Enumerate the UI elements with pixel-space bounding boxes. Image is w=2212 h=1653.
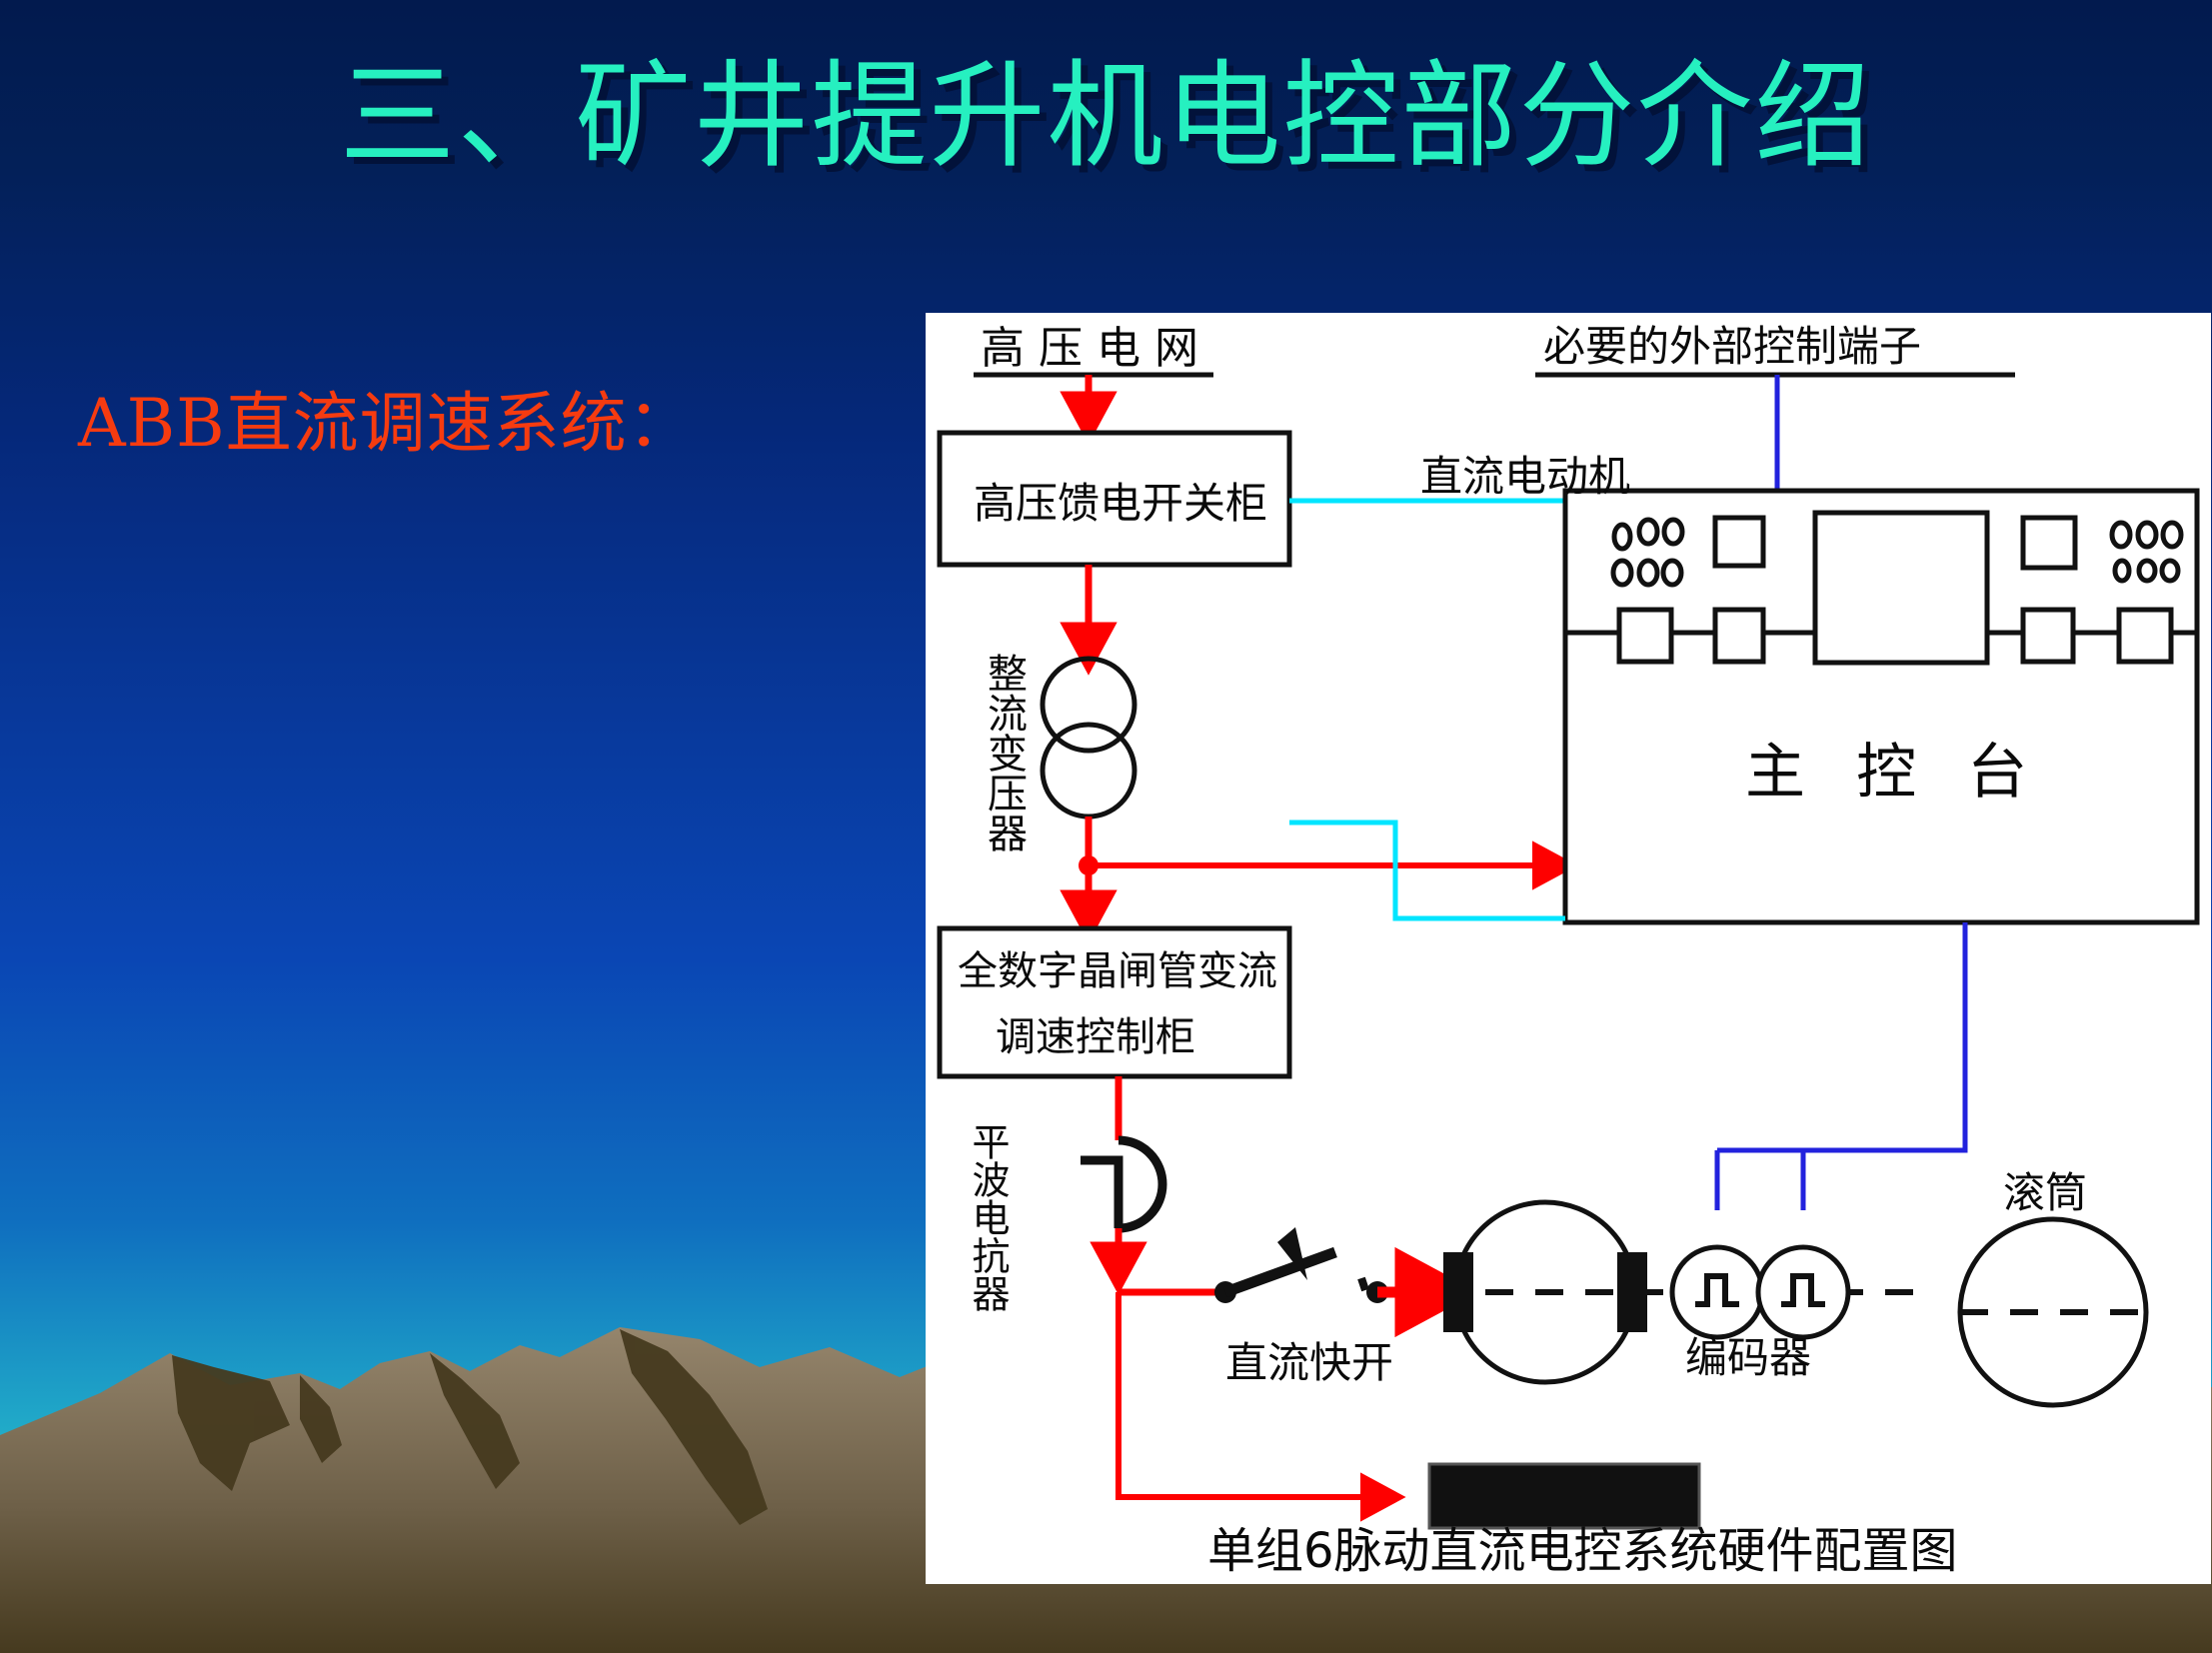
- label-smoothing-reactor: 平波电抗器: [966, 1122, 1010, 1312]
- field-excitation-bar: [1429, 1464, 1699, 1528]
- motor-brush-left: [1443, 1252, 1473, 1332]
- subtitle-text: ABB直流调速系统：: [78, 370, 695, 466]
- label-encoder: 编码器: [1685, 1333, 1811, 1382]
- encoder-circle-1: [1672, 1247, 1762, 1337]
- label-rectifier-transformer: 整流变压器: [981, 653, 1027, 852]
- console-display-screen[interactable]: [1815, 513, 1987, 663]
- power-line-to-field-bar: [1118, 1292, 1393, 1497]
- slide-root: 三、矿井提升机电控部分介绍 ABB直流调速系统： 高 压 电 网 必要的外部控制…: [0, 0, 2212, 1653]
- diagram-panel: 高 压 电 网 必要的外部控制端子 高压馈电开关柜 整流变压器: [926, 313, 2211, 1584]
- label-main-console: 主 控 台: [1745, 738, 2043, 808]
- label-drum: 滚筒: [2003, 1168, 2087, 1217]
- label-converter-line2: 调速控制柜: [996, 1014, 1195, 1060]
- diagram-caption: 单组6脉动直流电控系统硬件配置图: [1207, 1523, 1958, 1579]
- label-external-terminals: 必要的外部控制端子: [1543, 322, 1921, 371]
- transformer-coil-secondary: [1043, 725, 1134, 817]
- slide-title: 三、矿井提升机电控部分介绍: [0, 52, 2212, 182]
- reactor-core-line: [1081, 1160, 1118, 1228]
- label-converter-line1: 全数字晶闸管变流: [958, 948, 1277, 994]
- control-line-console-to-encoder: [1803, 922, 1965, 1210]
- signal-line-converter-to-console: [1289, 823, 1565, 918]
- label-hv-switchgear: 高压馈电开关柜: [974, 479, 1267, 528]
- reactor-coil-symbol: [1118, 1140, 1162, 1228]
- label-dc-fast-switch: 直流快开: [1225, 1338, 1393, 1387]
- dc-switch-blade: [1225, 1252, 1335, 1292]
- dc-switch-contact-hook: [1361, 1278, 1365, 1290]
- label-dc-motor: 直流电动机: [1420, 452, 1630, 501]
- label-hv-grid: 高 压 电 网: [981, 323, 1198, 374]
- encoder-circle-2: [1758, 1247, 1848, 1337]
